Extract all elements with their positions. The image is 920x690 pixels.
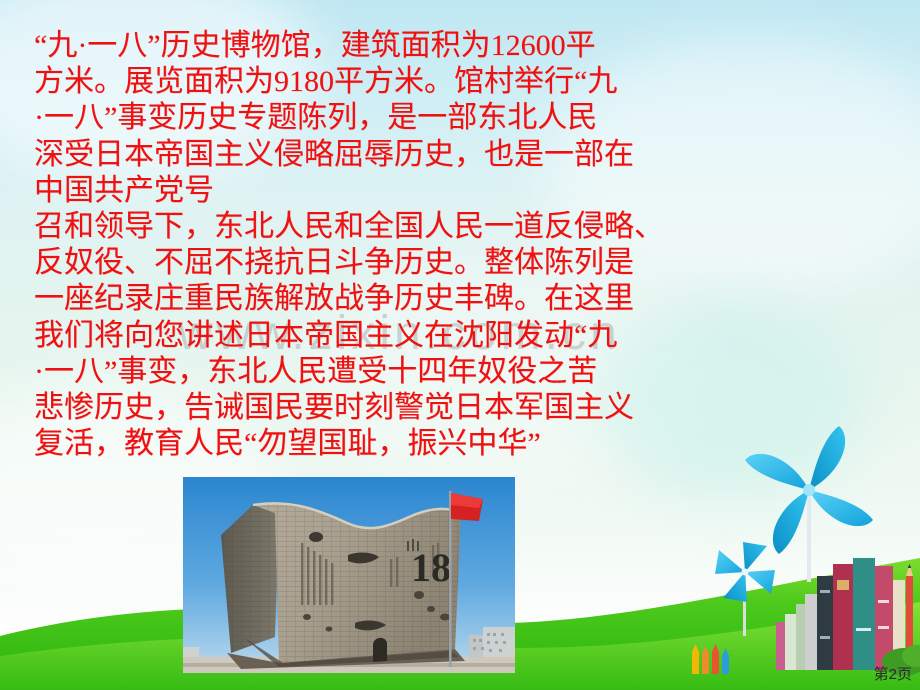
body-text: “九·一八”历史博物馆，建筑面积为12600平 方米。展览面积为9180平方米。… [34,28,694,462]
text-line: 我们将向您讲述日本帝国主义在沈阳发动“九 [34,318,694,354]
text-line: 悲惨历史，告诫国民要时刻警觉日本军国主义 [34,390,694,426]
carved-number-18: 18 [411,545,451,590]
pencil-icon [906,564,913,654]
text-line: 方米。展览面积为9180平方米。馆村举行“九 [34,64,694,100]
page-number: 第2页 [874,663,912,684]
crayon-group [692,644,729,674]
text-line: “九·一八”历史博物馆，建筑面积为12600平 [34,28,694,64]
text-line: ·一八”事变历史专题陈列，是一部东北人民 [34,100,694,136]
slide-canvas: www.zixin.com.cn “九·一八”历史博物馆，建筑面积为12600平… [0,0,920,690]
museum-monument-photo: 18 [183,477,515,673]
text-line: 深受日本帝国主义侵略屈辱历史，也是一部在 [34,137,694,173]
text-line: 复活，教育人民“勿望国耻，振兴中华” [34,426,694,462]
text-line: 召和领导下，东北人民和全国人民一道反侵略、 [34,209,694,245]
text-line: ·一八”事变，东北人民遭受十四年奴役之苦 [34,354,694,390]
text-line: 反奴役、不屈不挠抗日斗争历史。整体陈列是 [34,245,694,281]
pinwheel-books-decoration [690,390,920,690]
text-line: 中国共产党号 [34,173,694,209]
text-line: 一座纪录庄重民族解放战争历史丰碑。在这里 [34,281,694,317]
book-stack [776,558,905,670]
